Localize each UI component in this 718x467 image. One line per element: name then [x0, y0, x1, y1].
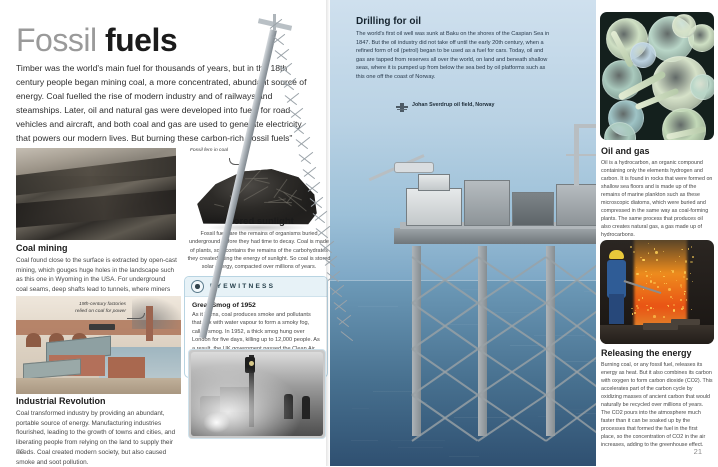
worker-body [607, 260, 626, 298]
steelworks-photo [600, 240, 714, 344]
page-number-left: 20 [16, 447, 24, 456]
accommodation-module [406, 188, 462, 226]
industrial-revolution-heading: Industrial Revolution [16, 396, 178, 406]
drilling-for-oil-block: Drilling for oil The world's first oil w… [356, 16, 552, 81]
oil-and-gas-block: Oil and gas Oil is a hydrocarbon, an org… [601, 146, 713, 239]
utility-module [512, 192, 554, 226]
releasing-energy-block: Releasing the energy Burning coal, or an… [601, 348, 713, 449]
drilling-heading: Drilling for oil [356, 16, 552, 27]
intro-paragraph: Timber was the world's main fuel for tho… [16, 62, 311, 159]
eyewitness-header: EYEWITNESS [185, 277, 327, 297]
stored-sunlight-body: Fossil fuels are the remains of organism… [186, 230, 332, 271]
oil-platform-icon [396, 100, 408, 112]
eyewitness-label: EYEWITNESS [210, 283, 275, 290]
diatom-photo [600, 12, 714, 140]
stored-sunlight-heading: Stored sunlight [186, 216, 332, 227]
helideck [394, 162, 434, 173]
metal-ingot [671, 319, 701, 325]
industrial-revolution-body: Coal transformed industry by providing a… [16, 409, 178, 467]
coal-mine-photo [16, 148, 176, 240]
page-title-light: Fossil [16, 22, 105, 58]
left-page: Fossil fuels Timber was the world's main… [0, 0, 330, 466]
stored-sunlight-block: Stored sunlight Fossil fuels are the rem… [186, 216, 332, 271]
industrial-revolution-block: Industrial Revolution Coal transformed i… [16, 396, 178, 467]
oil-and-gas-heading: Oil and gas [601, 146, 713, 156]
drilling-body: The world's first oil well was sunk at B… [356, 30, 552, 81]
london-smog-photo [188, 349, 326, 439]
right-sidebar-column: Oil and gas Oil is a hydrocarbon, an org… [596, 0, 718, 466]
releasing-energy-body: Burning coal, or any fossil fuel, releas… [601, 361, 713, 449]
fern-leader-line [229, 158, 244, 165]
main-deck [394, 228, 628, 244]
industrial-revolution-annotation: 19th-century factories relied on coal fo… [74, 302, 126, 316]
eyewitness-heading: Great Smog of 1952 [192, 302, 320, 309]
upper-cabin [418, 174, 450, 191]
page-number-right: 21 [694, 447, 702, 456]
book-spread: Drilling for oil The world's first oil w… [0, 0, 718, 466]
worker-legs [609, 294, 624, 324]
page-title-bold: fuels [105, 22, 177, 58]
page-title: Fossil fuels [16, 24, 177, 56]
releasing-energy-heading: Releasing the energy [601, 348, 713, 358]
coal-mining-heading: Coal mining [16, 243, 178, 253]
eye-icon [191, 280, 204, 293]
platform-label: Johan Sverdrup oil field, Norway [396, 100, 494, 112]
process-module [464, 180, 510, 226]
fossil-fern-annotation: Fossil fern in coal [186, 148, 228, 155]
platform-label-text: Johan Sverdrup oil field, Norway [412, 102, 494, 109]
oil-and-gas-body: Oil is a hydrocarbon, an organic compoun… [601, 159, 713, 239]
derrick-mast [574, 126, 579, 186]
hardhat-icon [609, 250, 624, 259]
